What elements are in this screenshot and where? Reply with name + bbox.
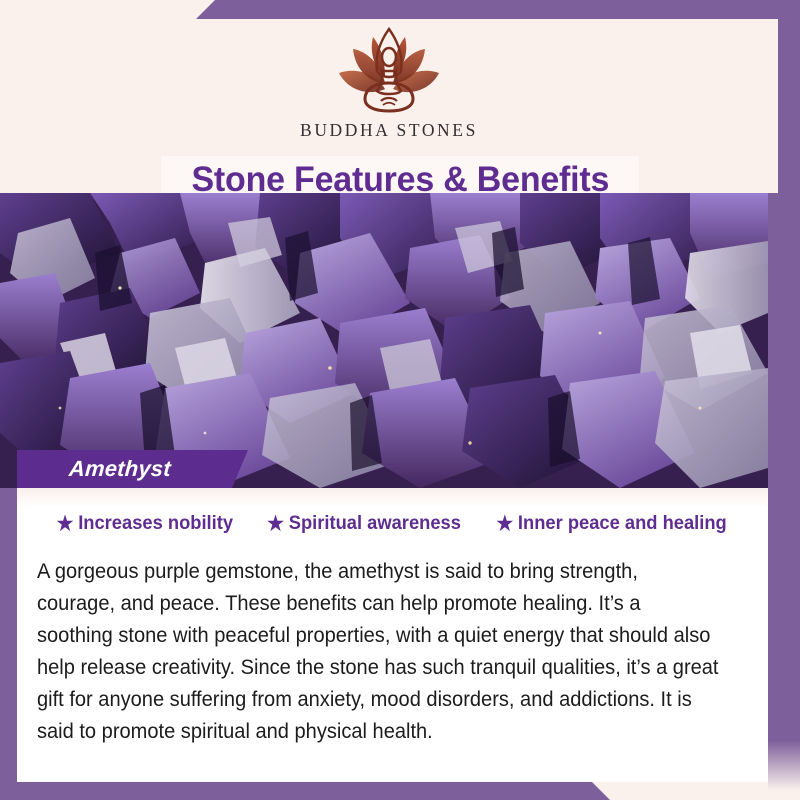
benefits-list: ★ Increases nobility ★ Spiritual awarene… (17, 512, 768, 535)
benefit-item: ★ Increases nobility (57, 512, 233, 535)
frame-left-accent (0, 488, 18, 800)
brand-name: BUDDHA STONES (300, 120, 478, 141)
benefit-item: ★ Inner peace and healing (496, 512, 726, 535)
frame-bottom-accent (0, 782, 800, 800)
star-icon: ★ (267, 514, 284, 534)
content-panel: ★ Increases nobility ★ Spiritual awarene… (17, 488, 768, 782)
frame-top-accent (0, 0, 800, 19)
benefit-label: Spiritual awareness (288, 512, 460, 535)
content-top-gradient (17, 488, 768, 507)
star-icon: ★ (496, 514, 513, 534)
frame-right-accent-fade (768, 680, 800, 790)
amethyst-crystal-cluster-graphic (0, 193, 768, 488)
stone-hero-image (0, 193, 768, 488)
star-icon: ★ (57, 514, 74, 534)
stone-description: A gorgeous purple gemstone, the amethyst… (37, 556, 720, 748)
benefit-label: Increases nobility (78, 512, 233, 535)
stone-name-banner: Amethyst (17, 450, 248, 488)
header: BUDDHA STONES Stone Features & Benefits (0, 19, 778, 193)
stone-name-label: Amethyst (16, 456, 172, 482)
brand-logo: BUDDHA STONES (0, 27, 778, 141)
product-info-card: BUDDHA STONES Stone Features & Benefits (0, 0, 800, 800)
lotus-meditation-icon (323, 27, 455, 119)
benefit-item: ★ Spiritual awareness (267, 512, 461, 535)
benefit-label: Inner peace and healing (518, 512, 727, 535)
